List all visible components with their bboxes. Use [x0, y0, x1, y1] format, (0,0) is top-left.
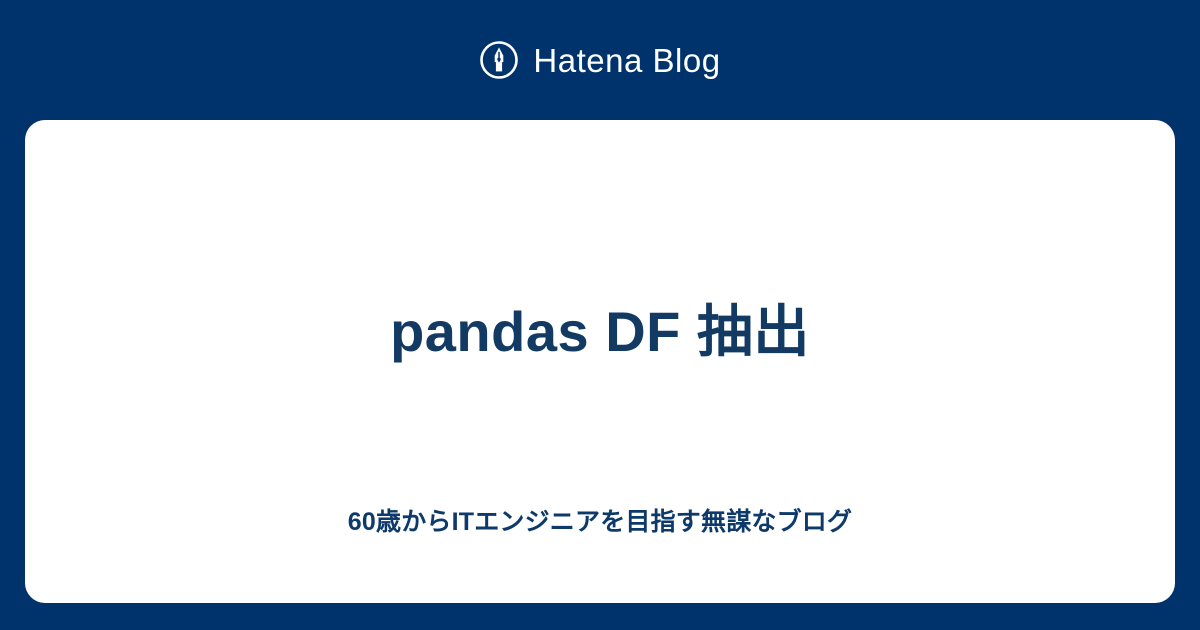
- fountain-pen-nib-in-circle-icon: [479, 40, 519, 80]
- entry-card: pandas DF 抽出 60歳からITエンジニアを目指す無謀なブログ: [25, 120, 1175, 603]
- brand-name: Hatena Blog: [533, 44, 720, 77]
- blog-title: 60歳からITエンジニアを目指す無謀なブログ: [25, 506, 1175, 539]
- og-image-root: Hatena Blog pandas DF 抽出 60歳からITエンジニアを目指…: [0, 0, 1200, 630]
- entry-title: pandas DF 抽出: [25, 300, 1175, 364]
- brand-header: Hatena Blog: [0, 0, 1200, 120]
